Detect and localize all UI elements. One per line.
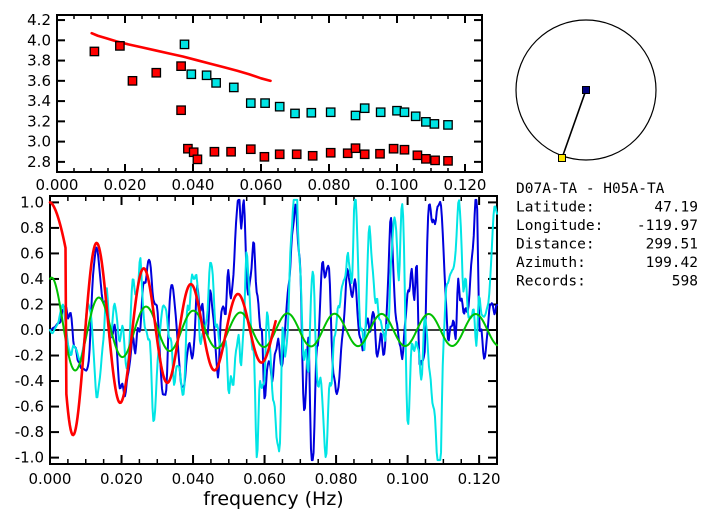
data-point-marker	[361, 104, 369, 112]
red-trace	[50, 202, 276, 435]
data-point-marker	[180, 40, 188, 48]
y-tick-label: 1.0	[20, 193, 44, 211]
y-tick-label: 0.4	[20, 270, 44, 288]
info-row-label: Latitude:	[516, 200, 595, 216]
x-tick-label: 0.080	[308, 176, 351, 194]
x-tick-label: 0.100	[386, 470, 429, 488]
y-tick-label: 2.8	[27, 153, 51, 171]
x-tick-label: 0.120	[458, 470, 501, 488]
y-tick-label: 4.2	[27, 11, 51, 29]
x-tick-label: 0.060	[240, 176, 283, 194]
data-point-marker	[400, 108, 408, 116]
data-point-marker	[431, 156, 439, 164]
figure-root: 0.0000.0200.0400.0600.0800.1000.1202.83.…	[0, 0, 704, 519]
y-tick-label: -0.2	[15, 347, 44, 365]
x-tick-label: 0.020	[100, 470, 143, 488]
data-point-marker	[291, 109, 299, 117]
data-point-marker	[261, 99, 269, 107]
x-tick-label: 0.040	[172, 470, 215, 488]
data-point-marker	[422, 155, 430, 163]
info-row-value: 199.42	[646, 255, 698, 271]
x-tick-label: 0.120	[444, 176, 487, 194]
info-row-label: Distance:	[516, 237, 595, 253]
data-point-marker	[177, 106, 185, 114]
info-row-label: Records:	[516, 274, 586, 290]
y-tick-label: 3.2	[27, 112, 51, 130]
y-tick-label: 0.6	[20, 244, 44, 262]
data-point-marker	[260, 153, 268, 161]
data-point-marker	[344, 149, 352, 157]
data-point-marker	[444, 157, 452, 165]
data-point-marker	[202, 71, 210, 79]
data-point-marker	[413, 151, 421, 159]
data-point-marker	[327, 108, 335, 116]
y-tick-label: 3.6	[27, 72, 51, 90]
red-squares-series	[90, 42, 452, 165]
data-point-marker	[389, 145, 397, 153]
y-tick-label: -0.8	[15, 423, 44, 441]
data-point-marker	[230, 83, 238, 91]
cyan-squares-series	[180, 40, 452, 129]
data-point-marker	[422, 118, 430, 126]
pair-info-panel: D07A-TA - H05A-TALatitude:47.19Longitude…	[516, 181, 698, 290]
data-point-marker	[376, 150, 384, 158]
data-point-marker	[376, 108, 384, 116]
data-point-marker	[308, 152, 316, 160]
data-point-marker	[152, 69, 160, 77]
data-point-marker	[212, 79, 220, 87]
data-point-marker	[430, 120, 438, 128]
info-row-value: 598	[672, 274, 698, 290]
y-tick-label: 3.0	[27, 133, 51, 151]
data-point-marker	[227, 148, 235, 156]
y-tick-label: 0.8	[20, 219, 44, 237]
data-point-marker	[128, 77, 136, 85]
data-point-marker	[351, 111, 359, 119]
data-point-marker	[187, 70, 195, 78]
data-point-marker	[351, 144, 359, 152]
x-tick-label: 0.040	[172, 176, 215, 194]
data-point-marker	[177, 62, 185, 70]
y-tick-label: -0.4	[15, 372, 44, 390]
info-row-value: 299.51	[646, 237, 698, 253]
figure-canvas: 0.0000.0200.0400.0600.0800.1000.1202.83.…	[0, 0, 704, 519]
y-tick-label: 0.0	[20, 321, 44, 339]
center-station-marker	[583, 87, 590, 94]
data-point-marker	[276, 102, 284, 110]
y-tick-label: -1.0	[15, 449, 44, 467]
info-row-value: 47.19	[654, 200, 698, 216]
spectra-plot: 0.0000.0200.0400.0600.0800.1000.120-1.0-…	[15, 193, 501, 510]
data-point-marker	[361, 150, 369, 158]
data-point-marker	[327, 149, 335, 157]
data-point-marker	[247, 99, 255, 107]
data-point-marker	[412, 112, 420, 120]
x-axis-title: frequency (Hz)	[203, 488, 343, 510]
info-row-label: Longitude:	[516, 218, 603, 234]
info-row-label: Azimuth:	[516, 255, 586, 271]
x-tick-label: 0.080	[315, 470, 358, 488]
y-tick-label: 4.0	[27, 31, 51, 49]
data-point-marker	[400, 146, 408, 154]
remote-station-marker	[559, 155, 566, 162]
data-point-marker	[116, 42, 124, 50]
great-circle-path	[562, 90, 586, 158]
data-point-marker	[444, 121, 452, 129]
plot-frame	[57, 15, 482, 172]
x-tick-label: 0.000	[29, 470, 72, 488]
y-tick-label: 3.8	[27, 52, 51, 70]
x-tick-label: 0.100	[376, 176, 419, 194]
data-point-marker	[307, 109, 315, 117]
dispersion-plot: 0.0000.0200.0400.0600.0800.1000.1202.83.…	[27, 11, 486, 194]
info-row-value: -119.97	[637, 218, 698, 234]
y-tick-label: 0.2	[20, 295, 44, 313]
data-point-marker	[247, 145, 255, 153]
station-pair-map	[516, 20, 656, 162]
x-tick-label: 0.000	[36, 176, 79, 194]
y-tick-label: -0.6	[15, 398, 44, 416]
x-tick-label: 0.060	[243, 470, 286, 488]
y-tick-label: 3.4	[27, 92, 51, 110]
data-point-marker	[193, 155, 201, 163]
pair-title: D07A-TA - H05A-TA	[516, 181, 665, 197]
data-point-marker	[90, 47, 98, 55]
data-point-marker	[293, 150, 301, 158]
data-point-marker	[210, 148, 218, 156]
x-tick-label: 0.020	[104, 176, 147, 194]
data-point-marker	[276, 150, 284, 158]
